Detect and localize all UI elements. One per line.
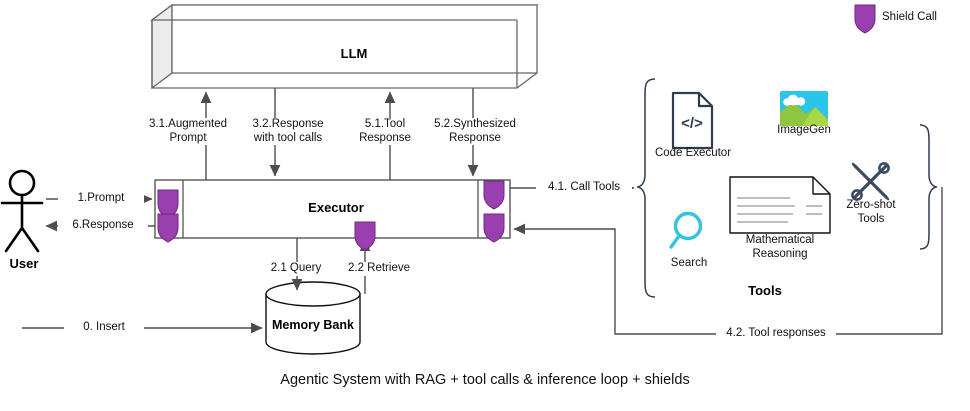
legend-shield-label: Shield Call xyxy=(882,11,937,23)
tools-group-label: Tools xyxy=(715,283,815,298)
tools-group-brace-left xyxy=(637,79,655,297)
image-icon xyxy=(780,91,828,126)
edge-label-tool-response: 5.1.Tool Response xyxy=(342,118,428,145)
llm-label: LLM xyxy=(254,46,454,61)
executor-label: Executor xyxy=(236,200,436,215)
edge-label-prompt: 1.Prompt xyxy=(58,192,144,206)
shield-icon-legend xyxy=(855,5,875,33)
shield-icon-executor-mid xyxy=(355,222,375,250)
tool-label-imagegen: ImageGen xyxy=(766,124,842,138)
edge-label-call-tools: 4.1. Call Tools xyxy=(536,181,632,195)
crossed-tools-icon xyxy=(852,163,888,199)
svg-text:</>: </> xyxy=(681,115,703,132)
edge-label-response: 6.Response xyxy=(58,219,148,233)
edge-label-synthesized-response: 5.2.Synthesized Response xyxy=(424,118,526,145)
code-document-icon: </> xyxy=(673,93,712,148)
tool-label-code-executor: Code Executor xyxy=(648,147,738,161)
user-actor xyxy=(2,171,42,251)
edge-label-retrieve: 2.2 Retrieve xyxy=(336,262,422,276)
tool-label-zero-shot-tools: Zero-shot Tools xyxy=(833,199,909,226)
edge-label-augmented-prompt: 3.1.Augmented Prompt xyxy=(140,118,236,145)
edge-label-response-tool-calls: 3.2.Response with tool calls xyxy=(238,118,338,145)
formula-document-icon xyxy=(730,177,830,233)
diagram-canvas: </> xyxy=(0,0,970,411)
diagram-caption: Agentic System with RAG + tool calls & i… xyxy=(0,372,970,388)
diagram-vector-layer: </> xyxy=(0,0,970,411)
memory-bank-label: Memory Bank xyxy=(243,318,383,332)
edge-label-insert: 0. Insert xyxy=(64,321,144,335)
magnifier-icon xyxy=(671,214,701,248)
edge-label-tool-responses: 4.2. Tool responses xyxy=(716,327,836,341)
tools-group-brace-right xyxy=(920,125,937,249)
tool-label-mathematical-reasoning: Mathematical Reasoning xyxy=(730,234,830,261)
tool-label-search: Search xyxy=(655,257,723,271)
edge-label-query: 2.1 Query xyxy=(256,262,336,276)
user-label: User xyxy=(0,256,48,271)
